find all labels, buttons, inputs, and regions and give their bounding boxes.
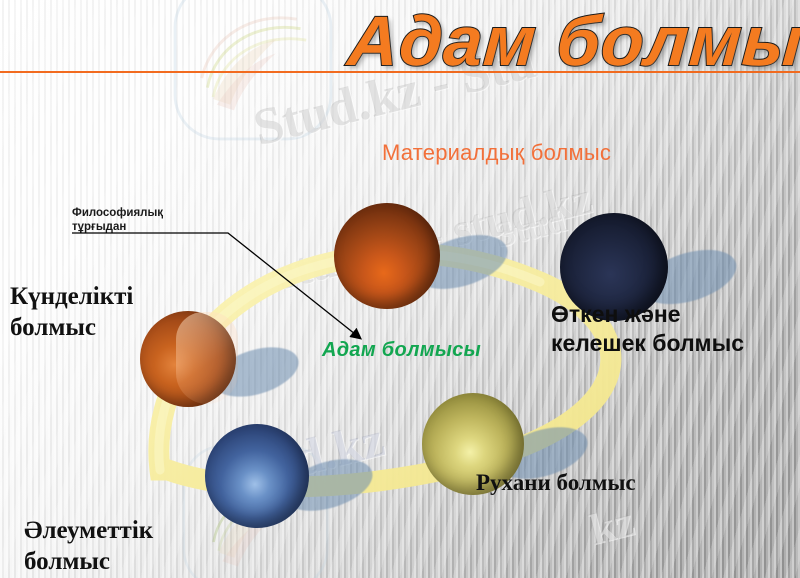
annotation-philosophical: Философиялық тұрғыдан xyxy=(72,206,163,234)
label-material-bolmys: Материалдық болмыс xyxy=(382,140,611,166)
label-kundelikti-bolmys: Күнделікті болмыс xyxy=(10,281,133,343)
label-aleumettik-bolmys: Әлеуметтік болмыс xyxy=(24,515,153,577)
slide-title: Адам болмысы xyxy=(345,2,800,80)
label-center-adam-bolmysy: Адам болмысы xyxy=(322,339,481,362)
everyday-sphere[interactable] xyxy=(140,311,236,407)
label-otken-keleshek-bolmys: Өткен және келешек болмыс xyxy=(551,300,744,358)
social-sphere[interactable] xyxy=(205,424,309,528)
material-sphere[interactable] xyxy=(334,203,440,309)
label-ruhani-bolmys: Рухани болмыс xyxy=(476,470,636,496)
presentation-slide: Stud.kz - Stu Stud stud.kz - stud.kz Stu… xyxy=(0,0,800,578)
